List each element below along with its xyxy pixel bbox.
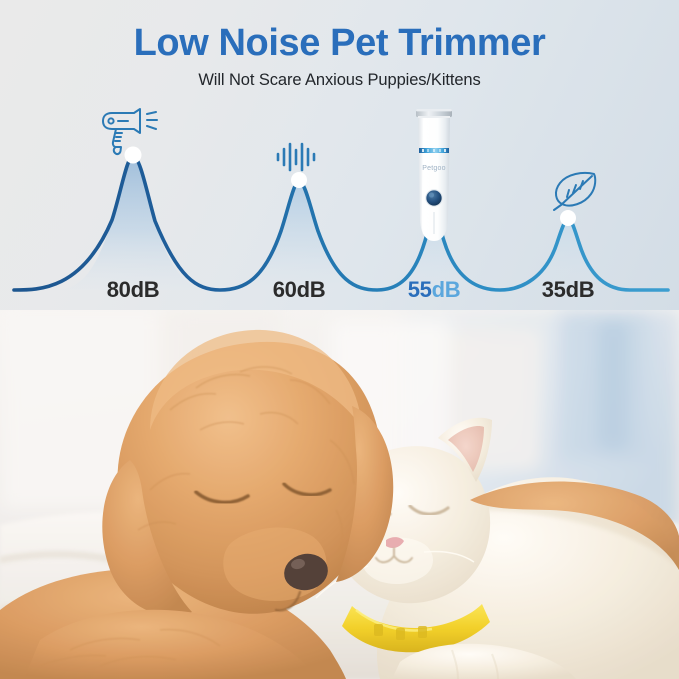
- hairdryer-icon: [100, 104, 162, 156]
- leaf-icon: [547, 169, 601, 213]
- dog-and-cat-photo: [0, 310, 679, 679]
- db-value-55: 55: [408, 277, 432, 302]
- db-label-60: 60dB: [239, 277, 359, 303]
- trimmer-indicator: [419, 148, 449, 153]
- photo-grade: [0, 310, 679, 679]
- db-label-80: 80dB: [73, 277, 193, 303]
- db-unit-55: dB: [432, 277, 461, 302]
- page-subtitle: Will Not Scare Anxious Puppies/Kittens: [0, 71, 679, 90]
- peak-marker-60db: [291, 172, 307, 188]
- db-unit-80: dB: [131, 277, 160, 302]
- trimmer-blade: [416, 109, 452, 119]
- infographic-panel: Low Noise Pet Trimmer Will Not Scare Anx…: [0, 0, 679, 312]
- page-title: Low Noise Pet Trimmer: [0, 22, 679, 65]
- wave-fill-60db: [228, 181, 372, 290]
- trimmer-product: Petgoo: [412, 108, 456, 244]
- db-value-60: 60: [273, 277, 297, 302]
- peak-markers: [125, 147, 577, 227]
- product-infographic: Low Noise Pet Trimmer Will Not Scare Anx…: [0, 0, 679, 679]
- db-unit-60: dB: [297, 277, 326, 302]
- trimmer-display: [426, 190, 442, 206]
- db-unit-35: dB: [566, 277, 595, 302]
- db-value-35: 35: [542, 277, 566, 302]
- lifestyle-photo: [0, 310, 679, 679]
- soundwave-icon: [274, 141, 318, 173]
- db-label-55: 55dB: [374, 277, 494, 303]
- trimmer-brand-text: Petgoo: [422, 165, 445, 172]
- db-label-35: 35dB: [508, 277, 628, 303]
- db-value-80: 80: [107, 277, 131, 302]
